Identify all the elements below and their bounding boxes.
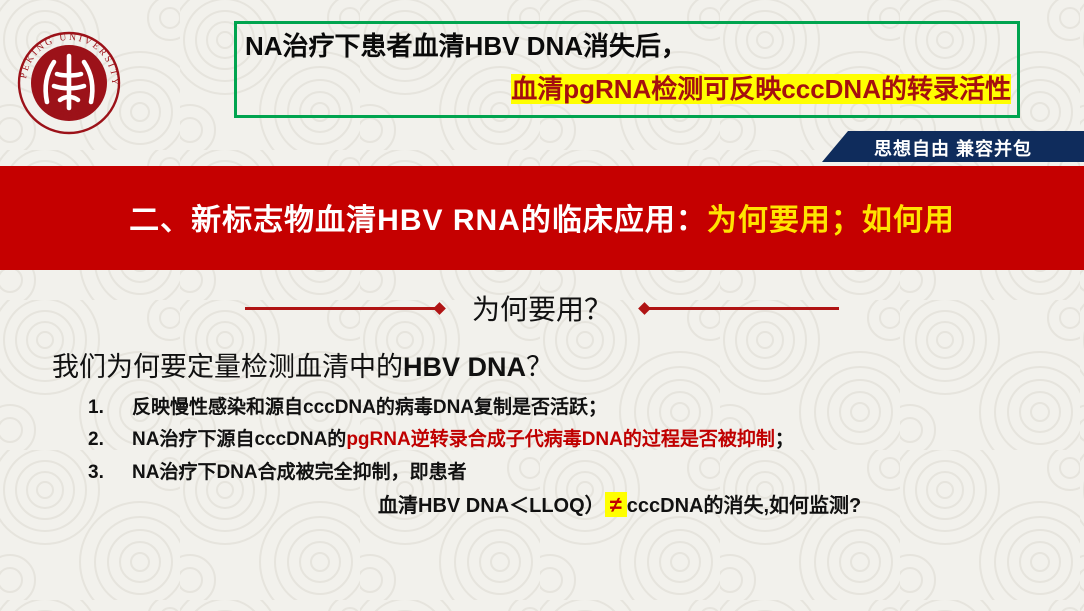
question-suffix: ？ (526, 352, 553, 382)
list-item-line2-after: cccDNA的消失,如何监测? (627, 495, 861, 517)
list-item-number: 2. (88, 428, 116, 452)
not-equal-symbol: ≠ (605, 492, 627, 517)
peking-university-seal-icon: PEKING UNIVERSITY 1898 (16, 12, 122, 154)
section-title: 二、新标志物血清HBV RNA的临床应用：为何要用；如何用 (0, 195, 1084, 239)
list-item-text: NA治疗下DNA合成被完全抑制，即患者 (132, 462, 467, 483)
diamond-marker-right (638, 302, 651, 315)
list-item-text-black: NA治疗下源自cccDNA的 (132, 429, 346, 450)
decorative-rule-left (245, 307, 440, 310)
list-item-second-line: 血清HBV DNA＜LLOQ）≠cccDNA的消失,如何监测? (132, 491, 1078, 520)
reasons-list: 1. 反映慢性感染和源自cccDNA的病毒DNA复制是否活跃； 2. NA治疗下… (88, 396, 1078, 528)
question-emphasis: HBV DNA (403, 352, 526, 382)
decorative-rule-right (644, 307, 839, 310)
list-item-text-tail: ； (775, 429, 794, 450)
section-title-accent: 为何要用；如何用 (707, 204, 955, 237)
question-prefix: 我们为何要定量检测血清中的 (52, 352, 403, 382)
header-title-box: NA治疗下患者血清HBV DNA消失后， 血清pgRNA检测可反映cccDNA的… (234, 21, 1020, 118)
list-item: 2. NA治疗下源自cccDNA的pgRNA逆转录合成子代病毒DNA的过程是否被… (88, 428, 1078, 452)
subheading-row: 为何要用？ (0, 285, 1084, 331)
section-banner: 二、新标志物血清HBV RNA的临床应用：为何要用；如何用 (0, 166, 1084, 270)
section-title-main: 二、新标志物血清HBV RNA的临床应用： (129, 204, 707, 237)
subheading-text: 为何要用？ (446, 288, 638, 328)
slide-header: PEKING UNIVERSITY 1898 NA治疗下患者血清HBV DNA消… (0, 0, 1084, 166)
list-item-number: 3. (88, 461, 116, 485)
motto-text: 思想自由 兼容并包 (874, 135, 1032, 161)
list-item-text: 反映慢性感染和源自cccDNA的病毒DNA复制是否活跃； (132, 397, 607, 418)
slide-root: PEKING UNIVERSITY 1898 NA治疗下患者血清HBV DNA消… (0, 0, 1084, 611)
list-item: 3. NA治疗下DNA合成被完全抑制，即患者 血清HBV DNA＜LLOQ）≠c… (88, 461, 1078, 520)
list-item-text-red: pgRNA逆转录合成子代病毒DNA的过程是否被抑制 (346, 429, 775, 450)
header-title-line2: 血清pgRNA检测可反映cccDNA的转录活性 (511, 69, 1011, 106)
list-item-number: 1. (88, 396, 116, 420)
list-item: 1. 反映慢性感染和源自cccDNA的病毒DNA复制是否活跃； (88, 396, 1078, 420)
list-item-body: 反映慢性感染和源自cccDNA的病毒DNA复制是否活跃； (132, 397, 607, 418)
list-item-body: NA治疗下DNA合成被完全抑制，即患者 (132, 462, 467, 483)
header-title-line1: NA治疗下患者血清HBV DNA消失后， (245, 26, 687, 63)
university-motto-banner: 思想自由 兼容并包 (822, 131, 1084, 162)
list-item-line2-before: 血清HBV DNA＜LLOQ） (378, 495, 605, 517)
diamond-marker-left (433, 302, 446, 315)
header-title-line2-text: 血清pgRNA检测可反映cccDNA的转录活性 (511, 74, 1011, 104)
list-item-body: NA治疗下源自cccDNA的pgRNA逆转录合成子代病毒DNA的过程是否被抑制； (132, 429, 794, 450)
question-line: 我们为何要定量检测血清中的HBV DNA？ (52, 345, 553, 384)
